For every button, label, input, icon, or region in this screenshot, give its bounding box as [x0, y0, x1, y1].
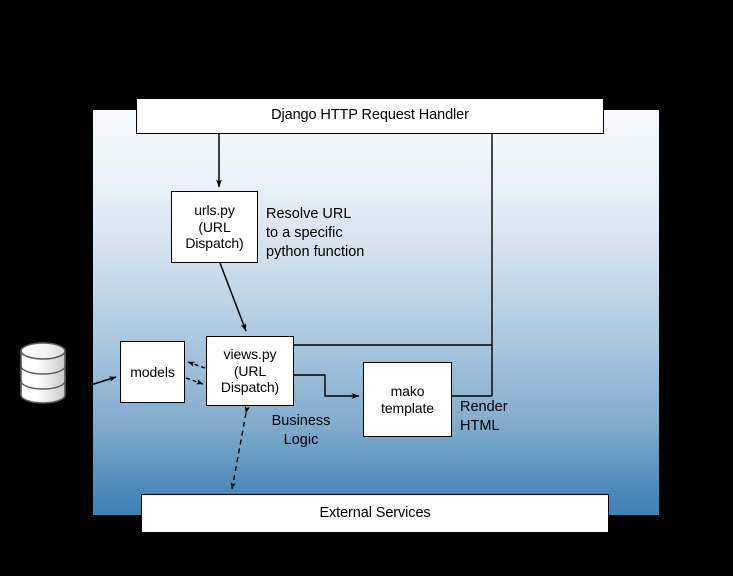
annotation-render-html: Render HTML — [460, 398, 508, 436]
node-external-label: External Services — [142, 505, 608, 522]
annotation-resolve-line2: to a specific — [266, 224, 364, 243]
diagram-canvas: Django HTTP Request Handler urls.py (URL… — [0, 0, 733, 576]
annotation-resolve-line3: python function — [266, 243, 364, 262]
node-views-line2: (URL — [207, 363, 293, 380]
node-models[interactable]: models — [120, 341, 185, 403]
gradient-backdrop-panel — [93, 110, 659, 515]
node-external-services[interactable]: External Services — [141, 494, 609, 533]
node-mako-template[interactable]: mako template — [363, 362, 452, 437]
node-urls-line3: Dispatch) — [172, 235, 257, 252]
node-urls-py[interactable]: urls.py (URL Dispatch) — [171, 191, 258, 263]
annotation-resolve-line1: Resolve URL — [266, 205, 364, 224]
annotation-render-line2: HTML — [460, 417, 508, 436]
annotation-business-line1: Business — [262, 412, 340, 431]
node-urls-line2: (URL — [172, 219, 257, 236]
node-views-line1: views.py — [207, 346, 293, 363]
annotation-business-line2: Logic — [262, 431, 340, 450]
annotation-business-logic: Business Logic — [262, 412, 340, 450]
node-views-py[interactable]: views.py (URL Dispatch) — [206, 336, 294, 406]
annotation-render-line1: Render — [460, 398, 508, 417]
annotation-resolve-url: Resolve URL to a specific python functio… — [266, 205, 364, 262]
node-urls-line1: urls.py — [172, 202, 257, 219]
node-models-label: models — [121, 364, 184, 381]
node-mako-line1: mako — [364, 383, 451, 400]
node-views-line3: Dispatch) — [207, 379, 293, 396]
node-django-http-request-handler[interactable]: Django HTTP Request Handler — [136, 98, 604, 134]
node-mako-line2: template — [364, 400, 451, 417]
node-header-label: Django HTTP Request Handler — [137, 107, 603, 124]
database-cylinder-icon — [18, 342, 68, 404]
